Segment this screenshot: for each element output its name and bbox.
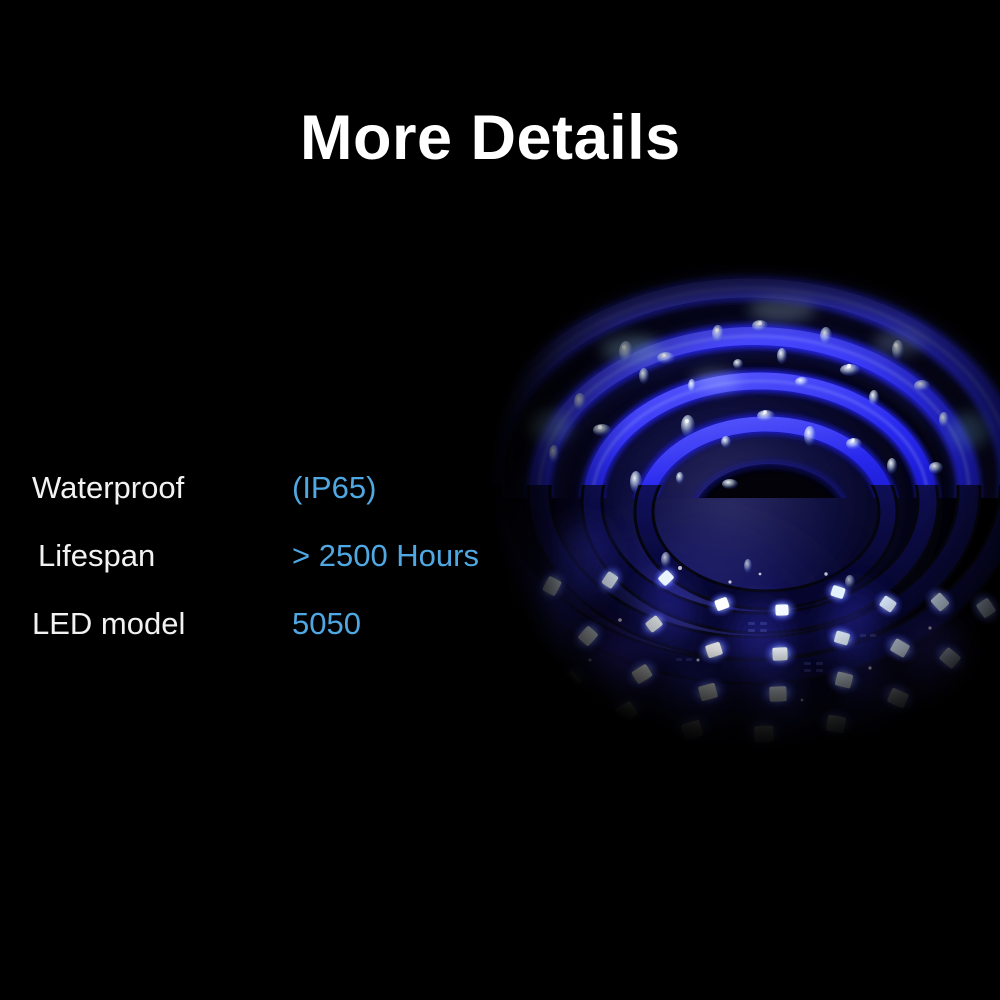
specs-list: Waterproof (IP65) Lifespan > 2500 Hours … <box>0 470 520 674</box>
spec-value-led-model: 5050 <box>292 606 361 642</box>
spec-label-waterproof: Waterproof <box>32 470 184 506</box>
spec-row-waterproof: Waterproof (IP65) <box>0 470 520 538</box>
spec-value-lifespan: > 2500 Hours <box>292 538 479 574</box>
spec-label-lifespan: Lifespan <box>38 538 155 574</box>
spec-value-waterproof: (IP65) <box>292 470 376 506</box>
spec-row-led-model: LED model 5050 <box>0 606 520 674</box>
spec-row-lifespan: Lifespan > 2500 Hours <box>0 538 520 606</box>
product-detail-page: More Details Waterproof (IP65) Lifespan … <box>0 0 1000 1000</box>
page-title: More Details <box>300 104 681 173</box>
spec-label-led-model: LED model <box>32 606 185 642</box>
